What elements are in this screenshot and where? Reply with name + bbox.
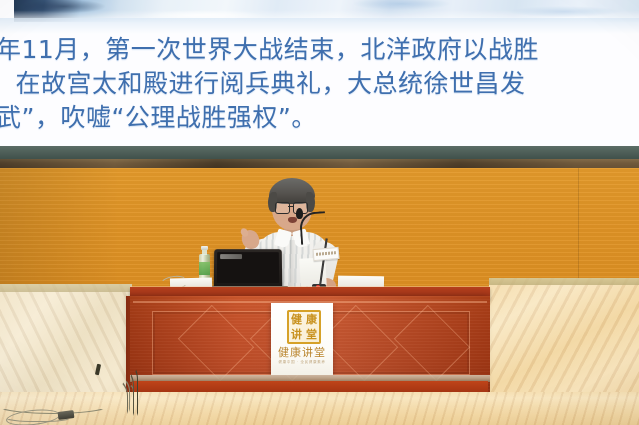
podium-sign-calligraphy: 健康讲堂 xyxy=(271,344,333,360)
stage-floor-left-edge xyxy=(0,284,132,292)
speaker-mouth xyxy=(288,217,297,223)
water-bottle-cap xyxy=(201,246,208,250)
seal-char-4: 堂 xyxy=(304,327,319,342)
name-card-text xyxy=(316,251,336,256)
glasses-lens-left xyxy=(275,202,290,214)
seal-char-3: 讲 xyxy=(289,327,304,342)
podium-diamond-3 xyxy=(322,305,398,381)
glasses-bridge xyxy=(288,206,293,207)
laptop-brand-logo xyxy=(220,254,242,259)
slide-text-line-1: 年11月，第一次世界大战结束，北洋政府以战胜 xyxy=(0,30,639,66)
seal-char-1: 健 xyxy=(289,312,304,327)
lecture-hall-photo: 年11月，第一次世界大战结束，北洋政府以战胜 ，在故宫太和殿进行阅兵典礼，大总统… xyxy=(0,0,639,425)
podium-sign-subtitle: 健康中国 · 全民健康素养 xyxy=(271,360,333,365)
floor-cables xyxy=(0,370,200,425)
slide-text-line-3: 武”，吹嘘“公理战胜强权”。 xyxy=(0,98,639,134)
laptop-screen xyxy=(214,249,282,288)
podium-sign: 健 康 讲 堂 健康讲堂 健康中国 · 全民健康素养 xyxy=(271,303,333,375)
microphone-name-card xyxy=(313,247,340,261)
health-lecture-seal-icon: 健 康 讲 堂 xyxy=(287,310,321,344)
screen-frame-band xyxy=(0,146,639,160)
microphone-head-icon xyxy=(296,208,303,219)
projection-screen: 年11月，第一次世界大战结束，北洋政府以战胜 ，在故宫太和殿进行阅兵典礼，大总统… xyxy=(0,0,639,146)
slide-text-line-2: ，在故宫太和殿进行阅兵典礼，大总统徐世昌发 xyxy=(0,64,639,100)
podium-diamond-4 xyxy=(394,305,470,381)
floor-cable-7 xyxy=(112,364,138,416)
microphone-gooseneck xyxy=(299,211,327,245)
wall-shadow xyxy=(0,168,120,294)
wall-panel-seam xyxy=(578,168,579,278)
water-bottle-label xyxy=(199,262,210,275)
stage-floor-right-edge xyxy=(489,278,639,285)
seal-char-2: 康 xyxy=(304,312,319,327)
